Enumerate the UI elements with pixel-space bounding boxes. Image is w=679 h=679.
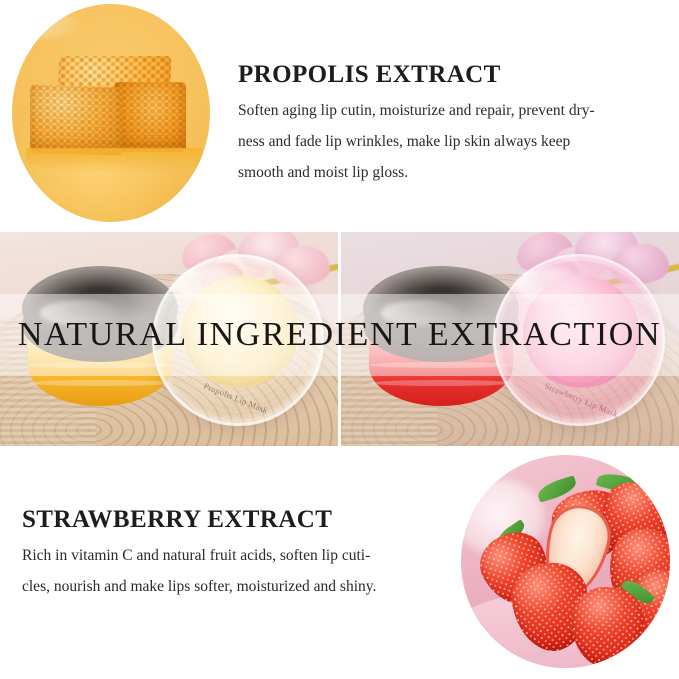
honey-highlight (20, 12, 80, 38)
propolis-description-line: smooth and moist lip gloss. (238, 157, 666, 188)
honeycomb-image (12, 4, 210, 222)
strawberries-image (461, 455, 670, 668)
strawberry-section: STRAWBERRY EXTRACT Rich in vitamin C and… (0, 446, 679, 679)
honeycomb-slab-front (30, 84, 122, 155)
propolis-description: Soften aging lip cutin, moisturize and r… (238, 95, 666, 188)
honeycomb-cells-icon (30, 84, 122, 155)
honey-drip (26, 148, 202, 172)
propolis-description-line: ness and fade lip wrinkles, make lip ski… (238, 126, 666, 157)
strawberry-description-line: cles, nourish and make lips softer, mois… (22, 571, 450, 602)
honeycomb-slab-right (114, 82, 186, 152)
strawberry-description: Rich in vitamin C and natural fruit acid… (22, 540, 450, 602)
jar-band (369, 380, 513, 386)
strawberry-title: STRAWBERRY EXTRACT (22, 506, 332, 534)
jar-band (28, 380, 172, 386)
propolis-description-line: Soften aging lip cutin, moisturize and r… (238, 95, 666, 126)
banner-section: Propolis Lip Mask (0, 232, 679, 446)
strawberry-description-line: Rich in vitamin C and natural fruit acid… (22, 540, 450, 571)
propolis-title: PROPOLIS EXTRACT (238, 61, 501, 89)
honeycomb-cluster (28, 56, 200, 176)
banner-headline: NATURAL INGREDIENT EXTRACTION (0, 294, 679, 376)
propolis-section: PROPOLIS EXTRACT Soften aging lip cutin,… (0, 0, 679, 232)
product-feature-page: PROPOLIS EXTRACT Soften aging lip cutin,… (0, 0, 679, 679)
honeycomb-cells-icon (114, 82, 186, 152)
